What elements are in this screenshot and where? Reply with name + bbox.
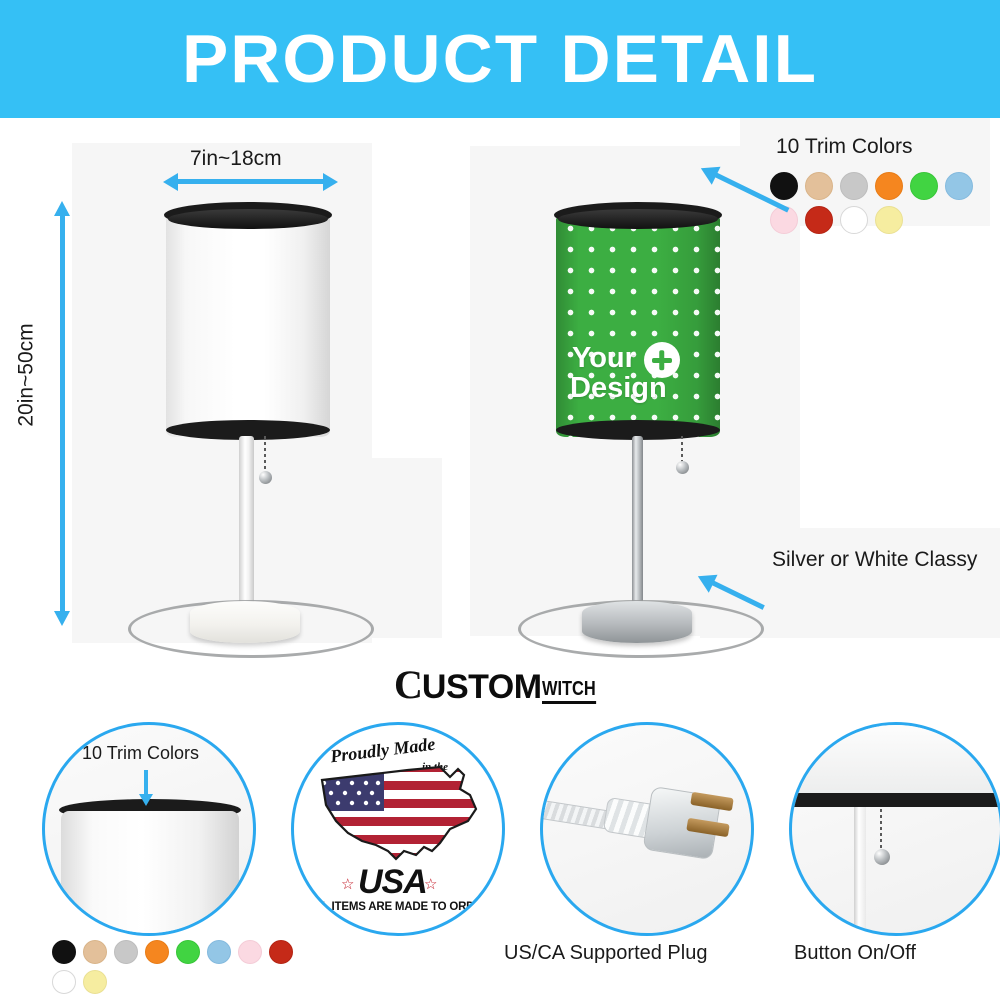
trim-swatch-orange[interactable]	[875, 172, 903, 200]
pull-chain-ball-right	[676, 461, 689, 474]
lamp-base-white	[190, 601, 300, 643]
trim-swatch-gray[interactable]	[840, 172, 868, 200]
switch-pull-chain	[880, 809, 882, 853]
lamp-base-silver	[582, 601, 692, 643]
lamp-trim-top-inner-right	[558, 209, 718, 229]
switch-trim-bar	[789, 793, 1000, 807]
trim-colors-label-top: 10 Trim Colors	[776, 135, 913, 159]
trim-swatch-yellow[interactable]	[83, 970, 107, 994]
height-arrow-line	[60, 215, 65, 613]
trim-swatch-green[interactable]	[910, 172, 938, 200]
base-finish-label: Silver or White Classy	[772, 548, 977, 572]
trim-swatch-red[interactable]	[269, 940, 293, 964]
usa-star-left-icon: ☆	[341, 875, 354, 893]
trim-swatch-black[interactable]	[52, 940, 76, 964]
trim-swatch-pink[interactable]	[238, 940, 262, 964]
trim-swatch-yellow[interactable]	[875, 206, 903, 234]
lamp-shade-plain	[166, 214, 330, 437]
height-arrow-head-top	[54, 201, 70, 216]
pull-chain-right	[681, 436, 683, 464]
header-banner: PRODUCT DETAIL	[0, 0, 1000, 118]
trim-swatch-tan[interactable]	[83, 940, 107, 964]
trim-colors-swatches-top[interactable]	[770, 172, 1000, 240]
usa-badge-country: USA	[358, 863, 427, 902]
brand-logo-suffix: WITCH	[542, 679, 596, 704]
height-arrow-head-bottom	[54, 611, 70, 626]
width-arrow-line	[175, 179, 327, 184]
switch-pull-chain-ball	[874, 849, 890, 865]
width-dimension-label: 7in~18cm	[190, 147, 282, 171]
trim-swatch-black[interactable]	[770, 172, 798, 200]
page-title: PRODUCT DETAIL	[0, 24, 1000, 94]
design-placeholder-line2: Design	[570, 374, 667, 404]
feature-circle-plug	[540, 722, 754, 936]
trim-colors-pointer-head-bottom	[139, 794, 153, 806]
usa-badge-note: ALL ITEMS ARE MADE TO ORDER!	[307, 901, 494, 913]
trim-swatch-green[interactable]	[176, 940, 200, 964]
height-dimension-label: 20in~50cm	[15, 323, 39, 426]
switch-pole	[854, 807, 866, 933]
design-placeholder-line1: Your	[572, 344, 636, 374]
brand-logo-initial: C	[394, 666, 422, 704]
trim-swatch-tan[interactable]	[805, 172, 833, 200]
width-arrow-head-left	[163, 173, 178, 191]
usa-star-right-icon: ☆	[424, 875, 437, 893]
lamp-shade-plain-surface	[166, 214, 330, 437]
feature-circle-made-in-usa: Proudly Made in the	[291, 722, 505, 936]
trim-colors-label-bottom: 10 Trim Colors	[82, 743, 199, 764]
lamp-trim-top-inner-left	[168, 209, 328, 229]
trim-swatch-light-blue[interactable]	[207, 940, 231, 964]
trim-colors-swatches-bottom[interactable]	[52, 940, 302, 1000]
trim-swatch-orange[interactable]	[145, 940, 169, 964]
brand-logo: C USTOM WITCH	[394, 666, 607, 704]
trim-swatch-red[interactable]	[805, 206, 833, 234]
pull-chain-ball-left	[259, 471, 272, 484]
width-arrow-head-right	[323, 173, 338, 191]
brand-logo-name: USTOM	[422, 670, 542, 704]
product-detail-stage: 7in~18cm 20in~50cm 10 Trim Colors Your D…	[0, 118, 1000, 1000]
trim-swatch-light-blue[interactable]	[945, 172, 973, 200]
trim-swatch-white[interactable]	[52, 970, 76, 994]
switch-caption: Button On/Off	[794, 942, 916, 965]
trim-colors-pointer-line-bottom	[144, 770, 148, 796]
switch-shade-surface	[792, 725, 1000, 795]
trim-swatch-gray[interactable]	[114, 940, 138, 964]
feature-circle-switch	[789, 722, 1000, 936]
trim-swatch-white[interactable]	[840, 206, 868, 234]
plug-caption: US/CA Supported Plug	[504, 942, 707, 965]
pull-chain-left	[264, 436, 266, 474]
